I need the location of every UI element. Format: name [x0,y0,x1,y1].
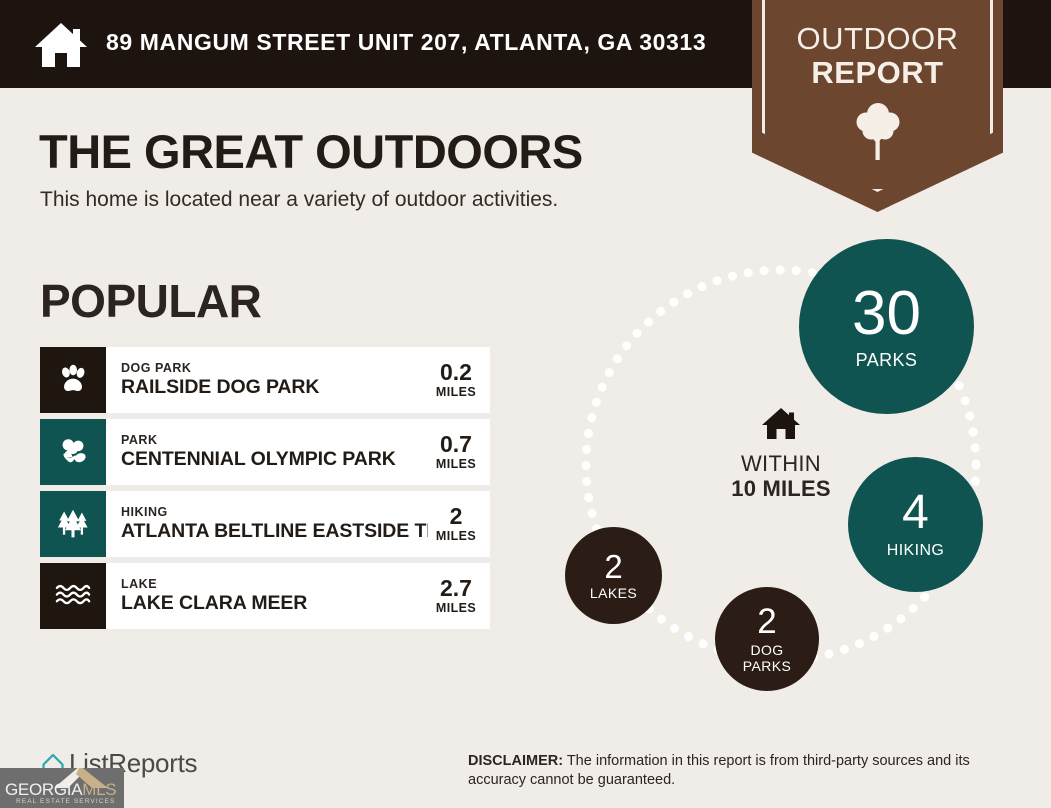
list-item-category: HIKING [121,505,428,520]
stat-count: 2 [757,604,776,639]
center-radius-label: 10 MILES [691,476,871,501]
list-item-name: CENTENNIAL OLYMPIC PARK [121,448,428,471]
diagram-center: WITHIN 10 MILES [691,407,871,501]
list-item-name: ATLANTA BELTLINE EASTSIDE TRAIL [121,520,428,543]
disclaimer: DISCLAIMER: The information in this repo… [468,752,1013,790]
list-item-category: PARK [121,433,428,448]
stat-label: PARKS [856,351,918,370]
list-item-category: DOG PARK [121,361,428,376]
list-item-text: HIKING ATLANTA BELTLINE EASTSIDE TRAIL [106,491,428,557]
badge-title: OUTDOOR REPORT [752,22,1003,90]
list-item[interactable]: DOG PARK RAILSIDE DOG PARK 0.2 MILES [40,347,490,413]
popular-heading: POPULAR [40,274,261,328]
georgia-mls-logo[interactable]: GEORGIAMLS REAL ESTATE SERVICES [0,768,124,808]
outdoor-report-badge: OUTDOOR REPORT [752,0,1003,212]
waves-icon [40,563,106,629]
list-item-text: LAKE LAKE CLARA MEER [106,563,428,629]
mls-wordmark: GEORGIAMLS [5,780,116,800]
stat-bubble-lakes[interactable]: 2 LAKES [565,527,662,624]
badge-title-line1: OUTDOOR [752,22,1003,56]
proximity-diagram: 30 PARKS 4 HIKING 2 DOG PARKS 2 LAKES WI… [545,235,1015,695]
property-address: 89 MANGUM STREET UNIT 207, ATLANTA, GA 3… [106,29,706,56]
stat-count: 2 [604,550,622,583]
list-item-distance: 2.7 MILES [428,563,490,629]
list-item-text: DOG PARK RAILSIDE DOG PARK [106,347,428,413]
list-item[interactable]: PARK CENTENNIAL OLYMPIC PARK 0.7 MILES [40,419,490,485]
list-item-category: LAKE [121,577,428,592]
park-icon [40,419,106,485]
distance-value: 2.7 [440,576,472,601]
list-item-distance: 0.2 MILES [428,347,490,413]
list-item-distance: 2 MILES [428,491,490,557]
badge-title-line2: REPORT [752,56,1003,90]
outdoor-report-page: 89 MANGUM STREET UNIT 207, ATLANTA, GA 3… [0,0,1051,808]
list-item-distance: 0.7 MILES [428,419,490,485]
page-title: THE GREAT OUTDOORS [39,124,583,179]
stat-bubble-dog-parks[interactable]: 2 DOG PARKS [715,587,819,691]
distance-unit: MILES [436,601,476,616]
mls-name-mls: MLS [82,780,116,799]
list-item[interactable]: LAKE LAKE CLARA MEER 2.7 MILES [40,563,490,629]
list-item[interactable]: HIKING ATLANTA BELTLINE EASTSIDE TRAIL 2… [40,491,490,557]
stat-count: 4 [902,489,929,537]
popular-list: DOG PARK RAILSIDE DOG PARK 0.2 MILES [40,347,490,635]
distance-value: 0.7 [440,432,472,457]
list-item-text: PARK CENTENNIAL OLYMPIC PARK [106,419,428,485]
tree-icon [856,100,900,162]
distance-value: 0.2 [440,360,472,385]
distance-unit: MILES [436,385,476,400]
stat-label: HIKING [887,542,945,559]
stat-count: 30 [852,283,921,345]
paw-icon [40,347,106,413]
list-item-name: LAKE CLARA MEER [121,592,428,615]
stat-bubble-parks[interactable]: 30 PARKS [799,239,974,414]
mls-name-georgia: GEORGIA [5,780,82,799]
mls-tagline: REAL ESTATE SERVICES [16,798,115,805]
distance-unit: MILES [436,457,476,472]
disclaimer-label: DISCLAIMER: [468,753,563,769]
distance-value: 2 [450,504,463,529]
center-within-label: WITHIN [691,451,871,476]
stat-label: DOG PARKS [743,643,791,673]
page-subtitle: This home is located near a variety of o… [40,188,558,212]
list-item-name: RAILSIDE DOG PARK [121,376,428,399]
distance-unit: MILES [436,529,476,544]
home-icon [33,21,89,69]
stat-label: LAKES [590,586,637,601]
home-icon [761,407,801,441]
trees-icon [40,491,106,557]
